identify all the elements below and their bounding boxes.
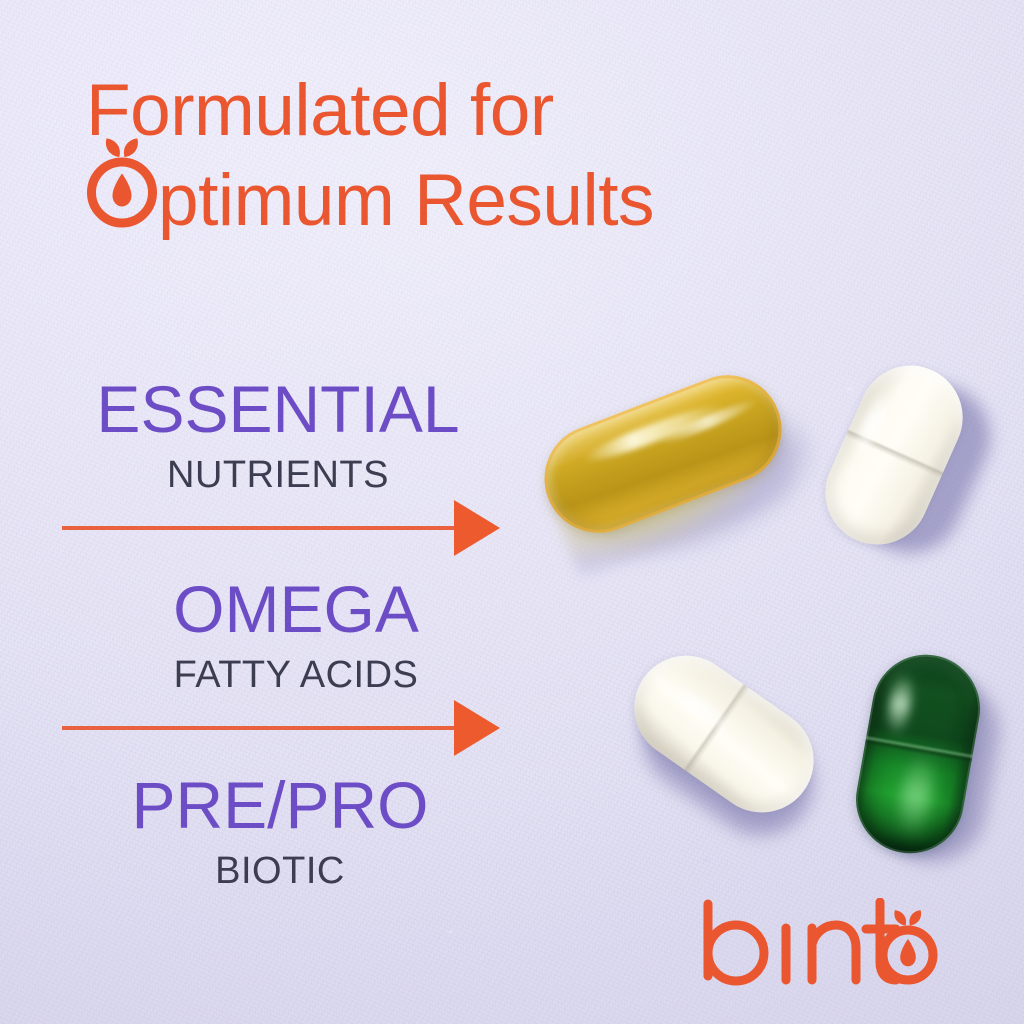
arrow-shaft bbox=[62, 526, 458, 530]
benefit-subtitle: BIOTIC bbox=[104, 852, 456, 890]
benefit-subtitle: NUTRIENTS bbox=[72, 456, 484, 494]
headline: Formulated for ptimum Results bbox=[86, 72, 786, 241]
benefit-title: PRE/PRO bbox=[104, 772, 456, 838]
binto-logo bbox=[700, 898, 946, 990]
headline-line-2-text: ptimum Results bbox=[158, 162, 654, 241]
capsule-cream-top bbox=[820, 340, 1010, 572]
benefit-essential-nutrients: ESSENTIAL NUTRIENTS bbox=[72, 376, 484, 494]
benefit-subtitle: FATTY ACIDS bbox=[120, 656, 472, 694]
headline-line-1: Formulated for bbox=[86, 72, 786, 151]
brand-o-leaf-droplet-icon bbox=[86, 153, 158, 227]
product-marketing-card: Formulated for ptimum Results ESSENTIAL … bbox=[0, 0, 1024, 1024]
capsule-green bbox=[844, 634, 1024, 878]
benefit-title: ESSENTIAL bbox=[72, 376, 484, 442]
arrow-shaft bbox=[62, 726, 458, 730]
benefit-pre-pro-biotic: PRE/PRO BIOTIC bbox=[104, 772, 456, 890]
benefit-omega-fatty-acids: OMEGA FATTY ACIDS bbox=[120, 576, 472, 694]
headline-line-2: ptimum Results bbox=[86, 151, 786, 241]
arrow-right-icon bbox=[62, 700, 502, 756]
arrow-right-icon bbox=[62, 500, 502, 556]
benefit-title: OMEGA bbox=[120, 576, 472, 642]
arrow-head bbox=[454, 500, 500, 556]
arrow-head bbox=[454, 700, 500, 756]
capsule-cream-bottom bbox=[602, 634, 848, 860]
softgel-capsule-amber bbox=[534, 372, 802, 562]
